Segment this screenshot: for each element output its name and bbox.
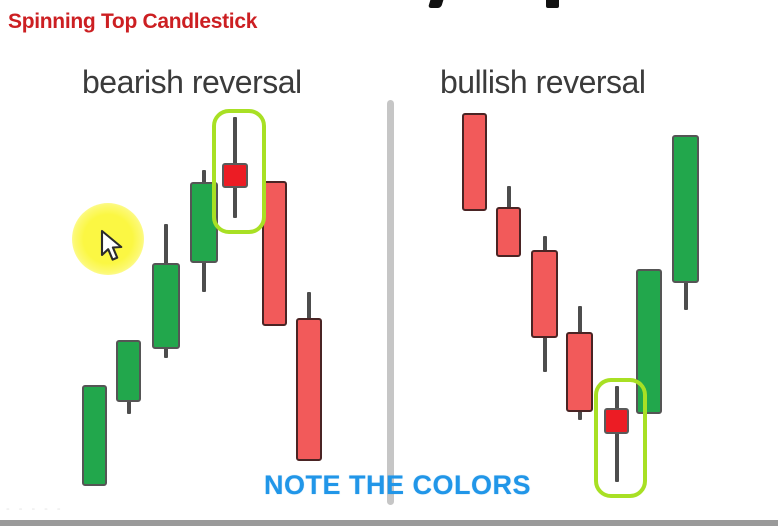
candle-wick <box>578 306 582 420</box>
candle-wick <box>233 117 237 218</box>
candle-wick <box>127 340 131 414</box>
candle-wick <box>507 186 511 257</box>
candle-wick <box>647 269 651 414</box>
mouse-cursor-icon <box>100 229 126 268</box>
candle-wick <box>473 113 477 211</box>
candle-body <box>152 263 180 349</box>
screenshot-root: Spinning Top Candlestick bearish reversa… <box>0 0 778 526</box>
candle-body <box>190 182 218 263</box>
partial-glyph-icon-2 <box>546 0 559 8</box>
spinning-top-highlight-bearish <box>212 109 266 234</box>
candlestick-bullish-6 <box>672 0 699 526</box>
candle-wick <box>93 385 97 486</box>
candle-body <box>604 408 629 434</box>
partial-glyph-icon-1 <box>428 0 447 8</box>
candle-body <box>496 207 521 257</box>
page-title: Spinning Top Candlestick <box>8 10 257 34</box>
candle-body <box>222 163 248 188</box>
candle-wick <box>273 181 277 326</box>
candle-wick <box>307 292 311 461</box>
candle-body <box>82 385 107 486</box>
watermark-text: - - - - - <box>6 503 64 515</box>
candle-wick <box>164 224 168 358</box>
candle-body <box>672 135 699 283</box>
candle-body <box>462 113 487 211</box>
panel-heading-bullish: bullish reversal <box>440 64 645 101</box>
candle-body <box>636 269 662 414</box>
candle-body <box>531 250 558 338</box>
panel-divider <box>387 100 394 505</box>
candle-body <box>116 340 141 402</box>
candle-wick <box>543 236 547 372</box>
candle-body <box>262 181 287 326</box>
candle-wick <box>684 135 688 310</box>
spinning-top-highlight-bullish <box>594 378 647 498</box>
panel-heading-bearish: bearish reversal <box>82 64 302 101</box>
candle-wick <box>202 170 206 292</box>
note-the-colors-caption: NOTE THE COLORS <box>264 470 531 501</box>
candle-body <box>566 332 593 412</box>
candle-body <box>296 318 322 461</box>
bottom-bar <box>0 520 778 526</box>
candle-wick <box>615 386 619 482</box>
